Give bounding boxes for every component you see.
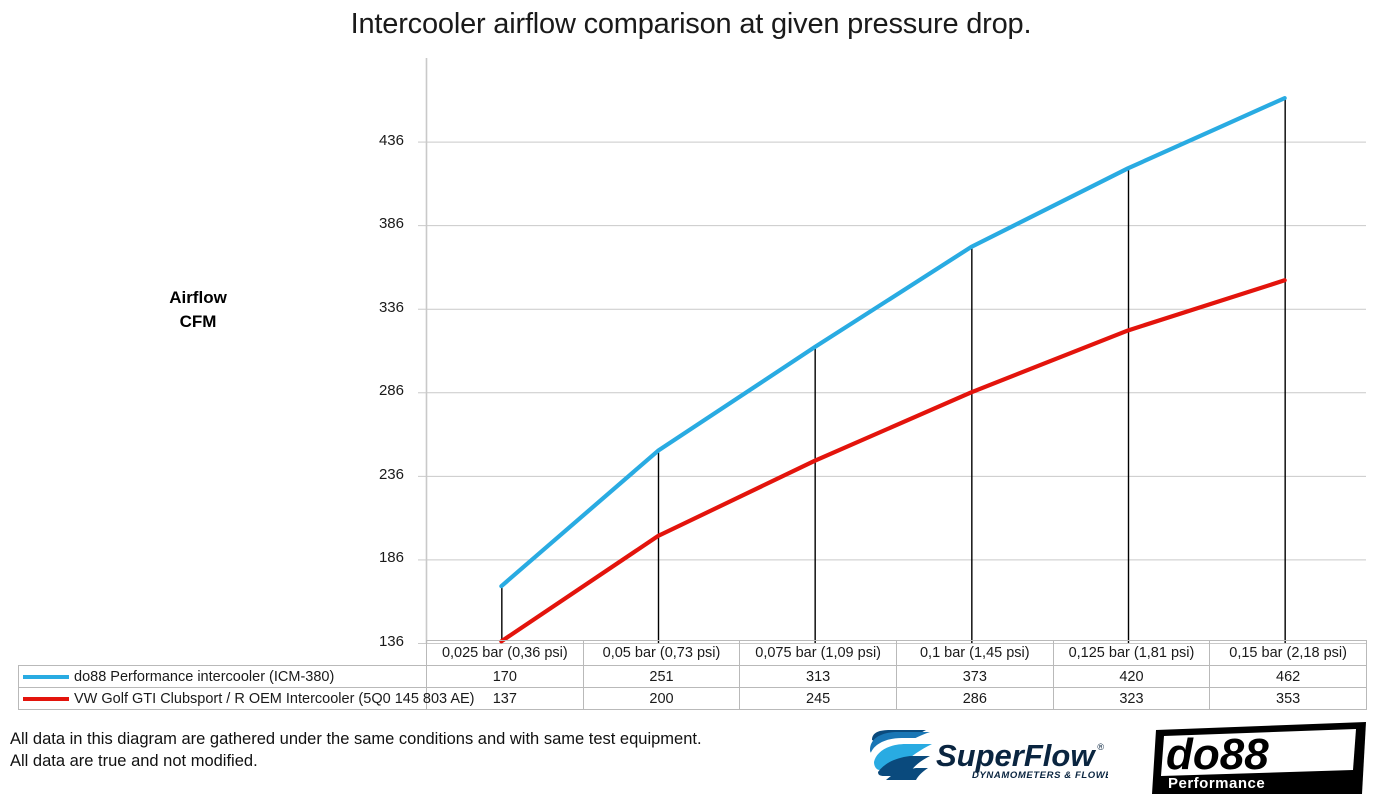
- series-line-0: [501, 98, 1284, 586]
- superflow-trademark: ®: [1097, 742, 1104, 752]
- x-axis-label-3: 0,1 bar (1,45 psi): [896, 641, 1053, 666]
- superflow-word-flow: Flow: [1024, 738, 1096, 773]
- data-cell-s0-c0: 170: [427, 666, 584, 688]
- xlabels-lead-cell: [19, 641, 427, 666]
- chart-page: Intercooler airflow comparison at given …: [0, 0, 1382, 812]
- y-tick-label-286: 286: [352, 382, 404, 399]
- legend-item-series-0[interactable]: do88 Performance intercooler (ICM-380): [19, 666, 427, 688]
- y-tick-label-186: 186: [352, 549, 404, 566]
- data-cell-s0-c3: 373: [896, 666, 1053, 688]
- legend-swatch-series-0: [23, 675, 69, 679]
- data-cell-s0-c5: 462: [1210, 666, 1367, 688]
- legend-label-series-1: VW Golf GTI Clubsport / R OEM Intercoole…: [74, 691, 475, 707]
- x-axis-label-2: 0,075 bar (1,09 psi): [740, 641, 897, 666]
- table-row-series-1: VW Golf GTI Clubsport / R OEM Intercoole…: [19, 688, 1367, 710]
- table-row-series-0: do88 Performance intercooler (ICM-380) 1…: [19, 666, 1367, 688]
- data-cell-s0-c2: 313: [740, 666, 897, 688]
- legend-swatch-series-1: [23, 697, 69, 701]
- data-cell-s1-c5: 353: [1210, 688, 1367, 710]
- superflow-wordmark: SuperFlow: [936, 738, 1096, 773]
- data-cell-s1-c3: 286: [896, 688, 1053, 710]
- x-axis-label-5: 0,15 bar (2,18 psi): [1210, 641, 1367, 666]
- x-axis-label-4: 0,125 bar (1,81 psi): [1053, 641, 1210, 666]
- series-line-1: [501, 280, 1284, 641]
- x-axis-label-0: 0,025 bar (0,36 psi): [427, 641, 584, 666]
- superflow-word-super: Super: [936, 738, 1026, 773]
- footnote: All data in this diagram are gathered un…: [10, 728, 702, 772]
- footnote-line-1: All data in this diagram are gathered un…: [10, 728, 702, 750]
- y-tick-label-236: 236: [352, 466, 404, 483]
- do88-tagline: Performance: [1168, 775, 1265, 792]
- data-cell-s1-c4: 323: [1053, 688, 1210, 710]
- data-cell-s0-c1: 251: [583, 666, 740, 688]
- y-tick-label-436: 436: [352, 132, 404, 149]
- x-axis-label-1: 0,05 bar (0,73 psi): [583, 641, 740, 666]
- y-tick-label-386: 386: [352, 215, 404, 232]
- superflow-wave-mark: [870, 730, 934, 780]
- legend-item-series-1[interactable]: VW Golf GTI Clubsport / R OEM Intercoole…: [19, 688, 427, 710]
- table-row-xlabels: 0,025 bar (0,36 psi)0,05 bar (0,73 psi)0…: [19, 641, 1367, 666]
- y-tick-label-336: 336: [352, 299, 404, 316]
- data-cell-s1-c2: 245: [740, 688, 897, 710]
- data-cell-s1-c1: 200: [583, 688, 740, 710]
- do88-wordmark: do88: [1166, 730, 1269, 779]
- legend-label-series-0: do88 Performance intercooler (ICM-380): [74, 669, 334, 685]
- footnote-line-2: All data are true and not modified.: [10, 750, 702, 772]
- data-cell-s0-c4: 420: [1053, 666, 1210, 688]
- do88-logo: do88 Performance: [1152, 722, 1366, 794]
- superflow-logo: SuperFlow ® DYNAMOMETERS & FLOWBENCHES: [868, 728, 1108, 784]
- data-table: 0,025 bar (0,36 psi)0,05 bar (0,73 psi)0…: [18, 640, 1367, 710]
- superflow-tagline: DYNAMOMETERS & FLOWBENCHES: [972, 770, 1108, 781]
